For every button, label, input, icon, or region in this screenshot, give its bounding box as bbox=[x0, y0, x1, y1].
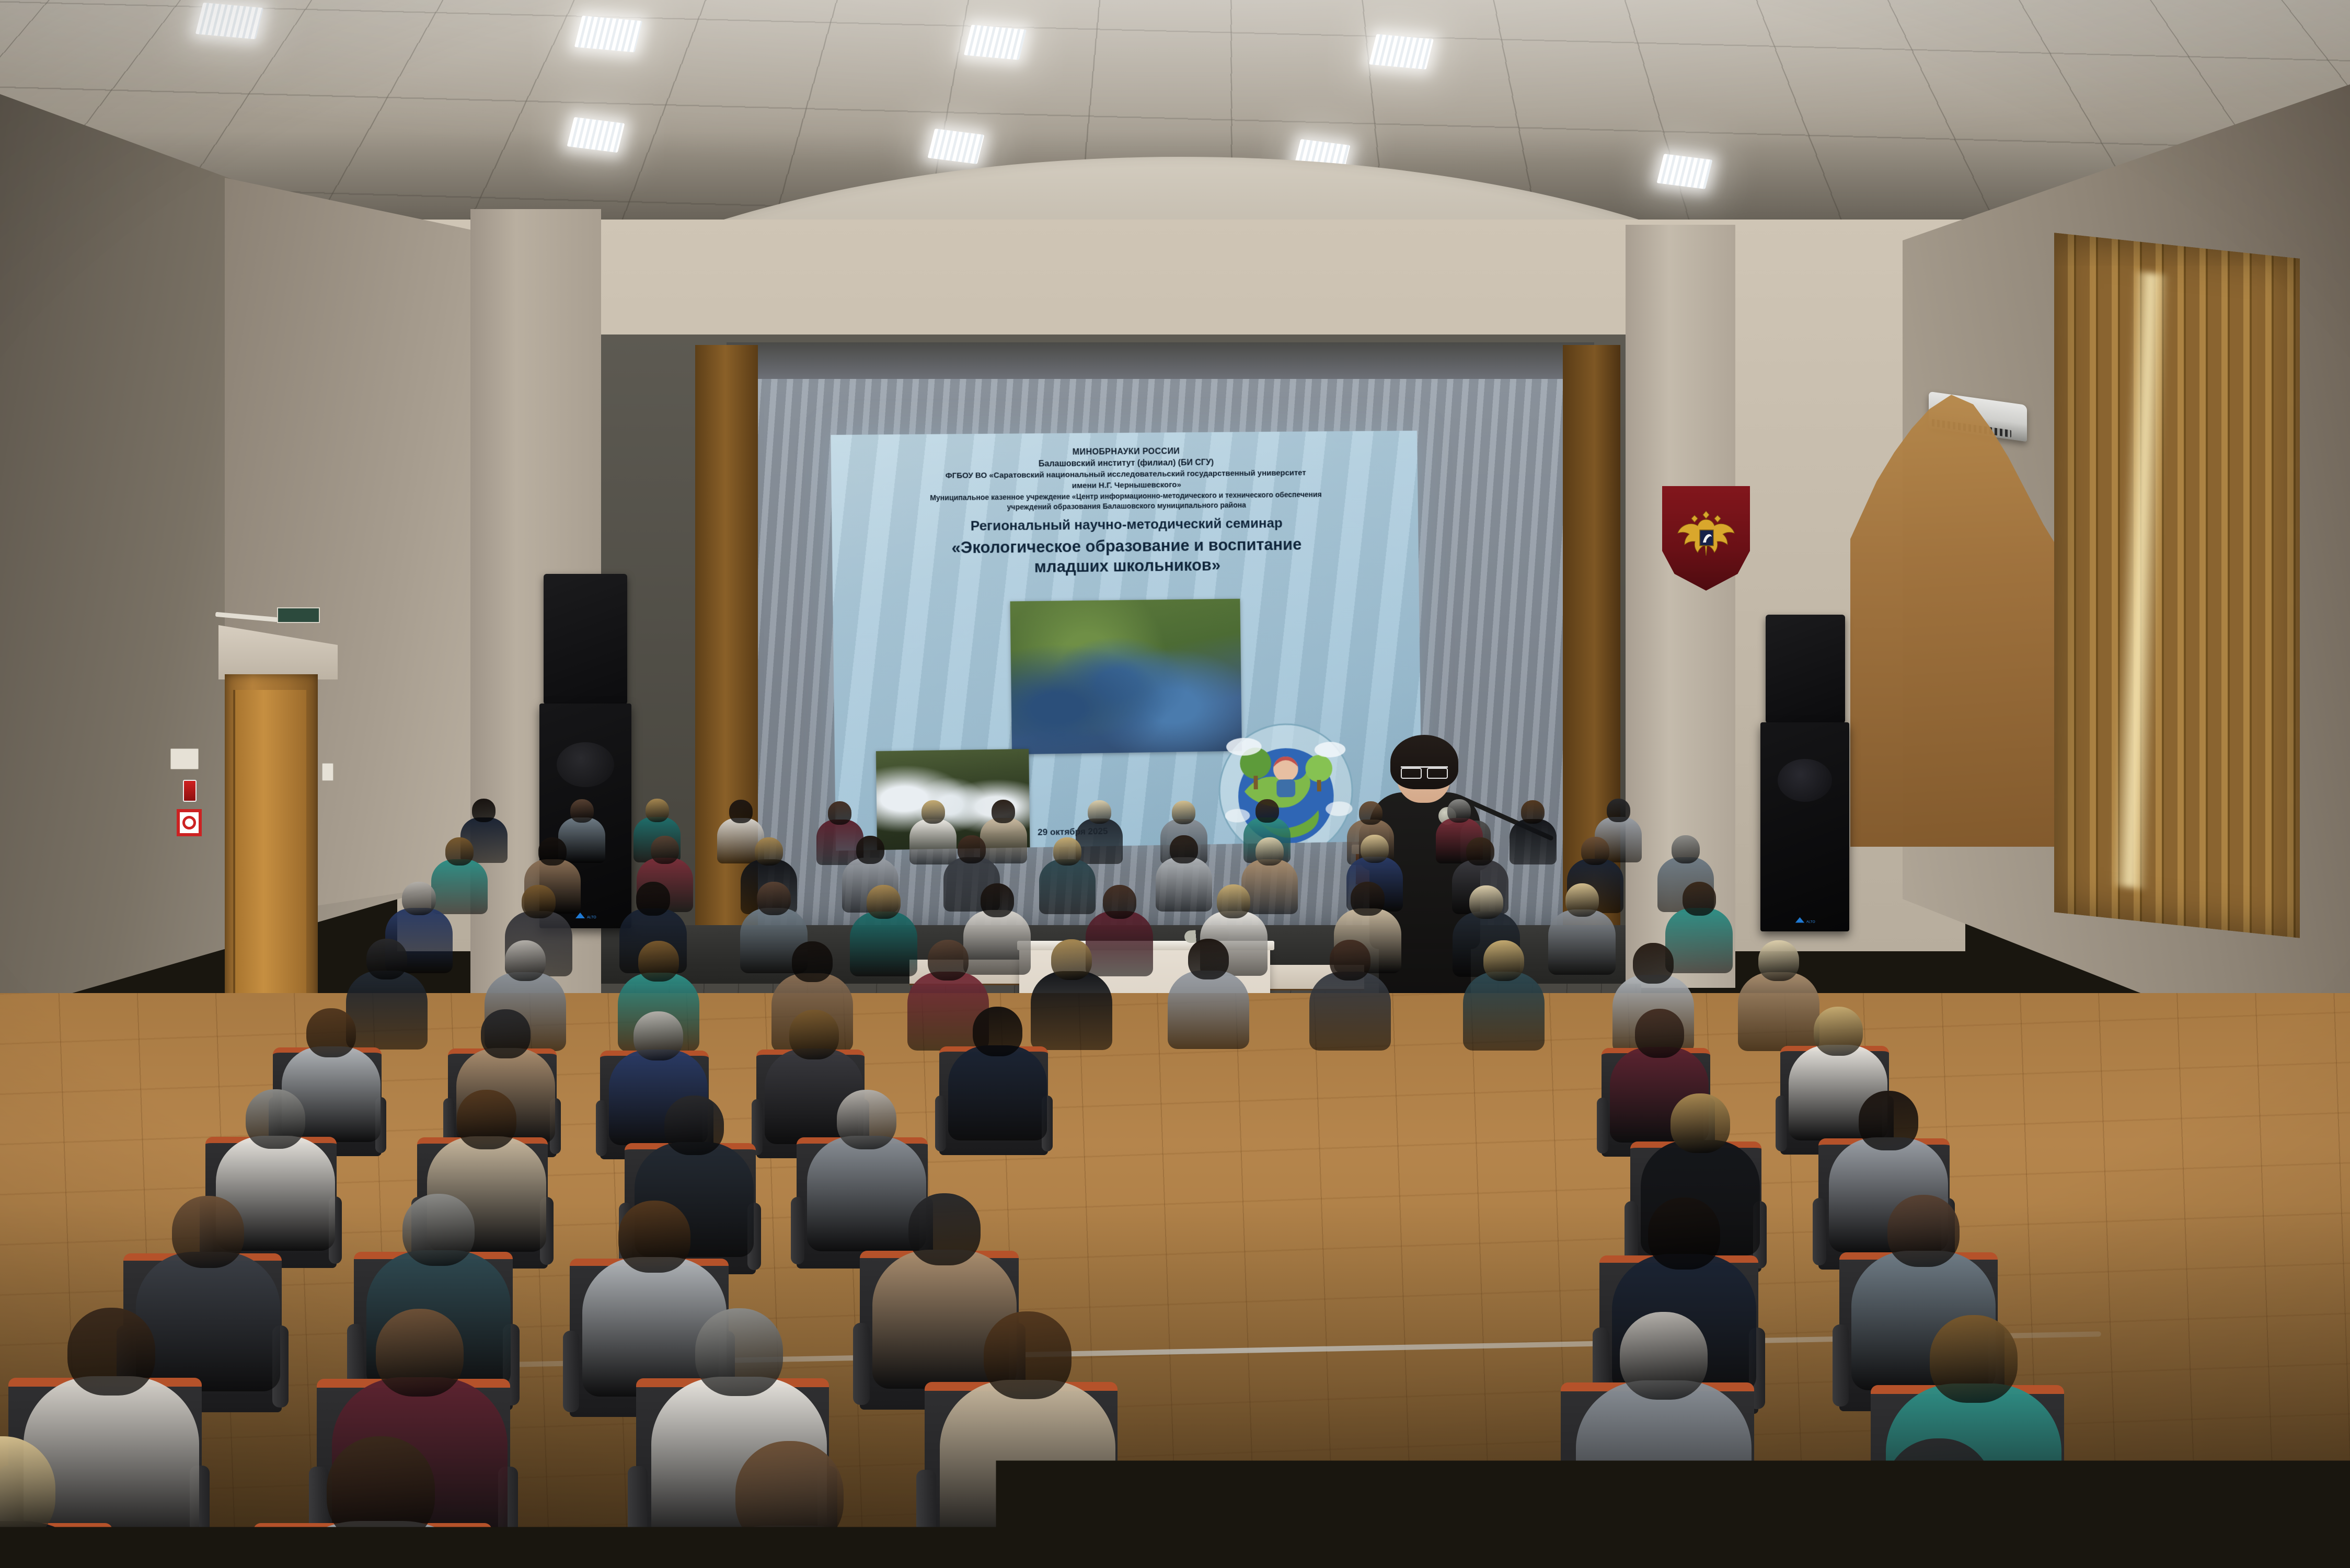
audience-head bbox=[1930, 1315, 2018, 1403]
audience-member bbox=[1307, 940, 1388, 1059]
audience-head bbox=[1758, 940, 1799, 981]
audience-torso bbox=[1548, 909, 1616, 975]
audience-head bbox=[1330, 940, 1370, 981]
audience-head bbox=[1351, 882, 1385, 916]
audience-head bbox=[867, 885, 901, 919]
audience-head bbox=[570, 799, 594, 823]
audience-head bbox=[402, 882, 436, 916]
chair-armrest bbox=[628, 1466, 648, 1565]
slide-title-block: Региональный научно-методический семинар… bbox=[832, 514, 1419, 579]
audience-member bbox=[1570, 1312, 1746, 1568]
left-wall-sensor-box bbox=[170, 748, 199, 769]
audience-member bbox=[265, 1436, 481, 1568]
stage-curtain-pelmet bbox=[727, 342, 1594, 379]
audience-member bbox=[0, 1436, 102, 1568]
audience-head bbox=[376, 1309, 464, 1397]
audience-head bbox=[1188, 939, 1229, 979]
audience-member bbox=[1824, 1438, 2040, 1568]
audience-head bbox=[1217, 884, 1251, 918]
audience-head bbox=[695, 1308, 783, 1396]
audience-member bbox=[934, 1311, 1110, 1568]
chair-armrest bbox=[1553, 1470, 1573, 1568]
audience-torso bbox=[1309, 972, 1391, 1051]
audience-head bbox=[327, 1436, 435, 1544]
audience-head bbox=[1255, 799, 1279, 823]
ceiling-lamp-icon bbox=[928, 129, 985, 164]
audience-head bbox=[992, 800, 1015, 823]
exit-sign bbox=[277, 607, 320, 623]
chair-armrest bbox=[1813, 1198, 1826, 1265]
ceiling-lamp-icon bbox=[574, 16, 642, 52]
audience-head bbox=[1887, 1195, 1960, 1267]
slide-title-line-1: Региональный научно-методический семинар bbox=[845, 514, 1406, 536]
audience-head bbox=[538, 837, 567, 866]
audience-head bbox=[472, 799, 496, 822]
audience-torso bbox=[1463, 972, 1545, 1051]
audience-head bbox=[1607, 799, 1630, 822]
audience-seating-area bbox=[0, 784, 2350, 1568]
audience-head bbox=[1466, 837, 1494, 866]
audience-head bbox=[172, 1196, 244, 1268]
chair-armrest bbox=[1776, 1096, 1787, 1151]
audience-head bbox=[1633, 943, 1674, 984]
audience-head bbox=[1469, 885, 1503, 919]
audience-head bbox=[1361, 835, 1389, 863]
audience-head bbox=[1565, 883, 1599, 917]
audience-head bbox=[792, 941, 833, 982]
audience-head bbox=[1635, 1009, 1685, 1058]
audience-head bbox=[664, 1096, 724, 1155]
audience-head bbox=[306, 1008, 356, 1058]
audience-head bbox=[1859, 1091, 1918, 1150]
speaker-hair bbox=[1390, 735, 1458, 789]
auditorium-photo: МИНОБРНАУКИ РОССИИ Балашовский институт … bbox=[0, 0, 2350, 1568]
light-switch-icon[interactable] bbox=[322, 763, 333, 781]
audience-head bbox=[1170, 835, 1198, 863]
loudspeaker-top-left bbox=[544, 574, 627, 705]
audience-torso bbox=[1576, 1380, 1752, 1550]
audience-head bbox=[246, 1089, 305, 1149]
audience-head bbox=[618, 1201, 690, 1273]
audience-head bbox=[928, 940, 969, 981]
audience-head bbox=[757, 882, 791, 916]
audience-head bbox=[1581, 837, 1609, 865]
chair-armrest bbox=[563, 1331, 579, 1412]
audience-head bbox=[908, 1193, 981, 1265]
chair-armrest bbox=[935, 1096, 946, 1151]
audience-head bbox=[837, 1090, 896, 1149]
audience-head bbox=[981, 883, 1015, 917]
audience-head bbox=[67, 1308, 155, 1396]
audience-head bbox=[1359, 801, 1383, 825]
audience-head bbox=[1053, 837, 1081, 866]
audience-head bbox=[366, 939, 407, 979]
audience-head bbox=[646, 799, 669, 822]
audience-head bbox=[1620, 1312, 1708, 1400]
audience-head bbox=[481, 1009, 531, 1059]
audience-head bbox=[921, 800, 945, 824]
audience-head bbox=[1103, 885, 1137, 919]
audience-head bbox=[1051, 939, 1092, 980]
audience-torso bbox=[948, 1045, 1047, 1141]
audience-member bbox=[1460, 940, 1542, 1060]
chair-armrest bbox=[1597, 1098, 1608, 1154]
audience-member bbox=[1546, 883, 1614, 982]
audience-head bbox=[856, 836, 884, 864]
chair-armrest bbox=[916, 1470, 936, 1568]
audience-head bbox=[1648, 1197, 1720, 1270]
audience-head bbox=[505, 940, 546, 981]
ceiling-lamp-icon bbox=[964, 25, 1027, 60]
audience-head bbox=[958, 835, 986, 863]
double-headed-eagle-icon bbox=[1675, 507, 1737, 561]
audience-head bbox=[984, 1311, 1072, 1399]
ceiling-lamp-icon bbox=[1369, 34, 1434, 70]
loudspeaker-top-right bbox=[1766, 615, 1845, 723]
audience-member bbox=[674, 1441, 891, 1568]
audience-head bbox=[638, 941, 679, 982]
chair-armrest bbox=[791, 1197, 804, 1264]
audience-head bbox=[651, 836, 679, 864]
chair-armrest bbox=[853, 1323, 869, 1404]
audience-head bbox=[735, 1441, 844, 1549]
audience-head bbox=[1885, 1438, 1993, 1547]
audience-head bbox=[789, 1010, 839, 1059]
audience-head bbox=[1683, 882, 1717, 916]
audience-head bbox=[973, 1007, 1022, 1056]
audience-head bbox=[1447, 799, 1471, 823]
audience-head bbox=[1671, 1093, 1730, 1153]
speaker-cone-icon bbox=[557, 742, 614, 787]
audience-head bbox=[402, 1194, 475, 1266]
audience-head bbox=[755, 837, 783, 866]
audience-head bbox=[1088, 800, 1111, 824]
audience-head bbox=[828, 801, 851, 825]
audience-head bbox=[457, 1090, 516, 1149]
audience-head bbox=[522, 885, 556, 919]
audience-head bbox=[1521, 800, 1545, 824]
audience-member bbox=[1165, 939, 1247, 1058]
glasses-icon bbox=[1401, 766, 1448, 775]
audience-member bbox=[945, 1007, 1044, 1151]
slide-header-block: МИНОБРНАУКИ РОССИИ Балашовский институт … bbox=[831, 444, 1418, 514]
audience-head bbox=[1255, 837, 1284, 866]
ceiling-lamp-icon bbox=[195, 3, 263, 39]
audience-head bbox=[1172, 801, 1195, 824]
audience-head bbox=[445, 837, 474, 866]
chair-armrest bbox=[1833, 1324, 1849, 1406]
audience-head bbox=[1483, 940, 1524, 981]
audience-torso bbox=[1168, 971, 1249, 1050]
audience-head bbox=[729, 800, 753, 823]
audience-head bbox=[633, 1011, 683, 1061]
audience-head bbox=[1814, 1007, 1863, 1056]
ceiling-lamp-icon bbox=[567, 117, 625, 153]
audience-torso bbox=[940, 1380, 1115, 1550]
ceiling-lamp-icon bbox=[1656, 154, 1712, 189]
audience-head bbox=[636, 882, 670, 916]
audience-member bbox=[1508, 800, 1555, 869]
chair-armrest bbox=[596, 1100, 607, 1156]
audience-torso bbox=[1510, 819, 1557, 864]
audience-head bbox=[1672, 835, 1700, 863]
